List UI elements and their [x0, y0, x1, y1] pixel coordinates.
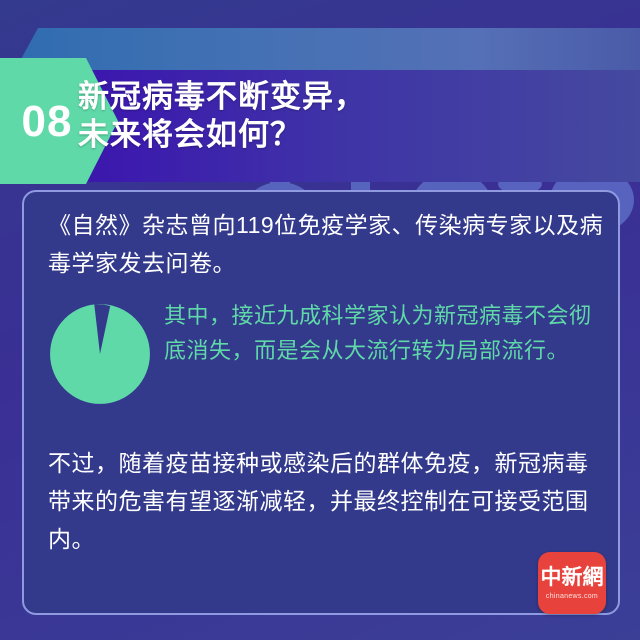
pie-chart-icon	[48, 302, 152, 406]
logo-url-label: chinanews.com	[546, 593, 598, 600]
section-number-label: 08	[22, 97, 73, 147]
page-title: 新冠病毒不断变异， 未来将会如何？	[78, 78, 608, 154]
logo-name-label: 中新網	[541, 566, 604, 590]
intro-paragraph: 《自然》杂志曾向119位免疫学家、传染病专家以及病毒学家发去问卷。	[48, 206, 604, 282]
highlight-row: 其中，接近九成科学家认为新冠病毒不会彻底消失，而是会从大流行转为局部流行。	[48, 296, 608, 406]
chinanews-logo: 中新網 chinanews.com	[538, 552, 606, 614]
conclusion-paragraph: 不过，随着疫苗接种或感染后的群体免疫，新冠病毒带来的危害有望逐渐减轻，并最终控制…	[48, 444, 604, 558]
page-title-line-1: 新冠病毒不断变异，	[78, 78, 608, 116]
content-card: 《自然》杂志曾向119位免疫学家、传染病专家以及病毒学家发去问卷。 其中，接近九…	[22, 190, 620, 615]
top-decorative-bar	[0, 28, 640, 72]
poster-canvas: 08 新冠病毒不断变异， 未来将会如何？ 《自然》杂志曾向119位免疫学家、传染…	[0, 0, 640, 640]
page-title-line-2: 未来将会如何？	[78, 116, 608, 154]
highlight-paragraph: 其中，接近九成科学家认为新冠病毒不会彻底消失，而是会从大流行转为局部流行。	[164, 296, 608, 368]
